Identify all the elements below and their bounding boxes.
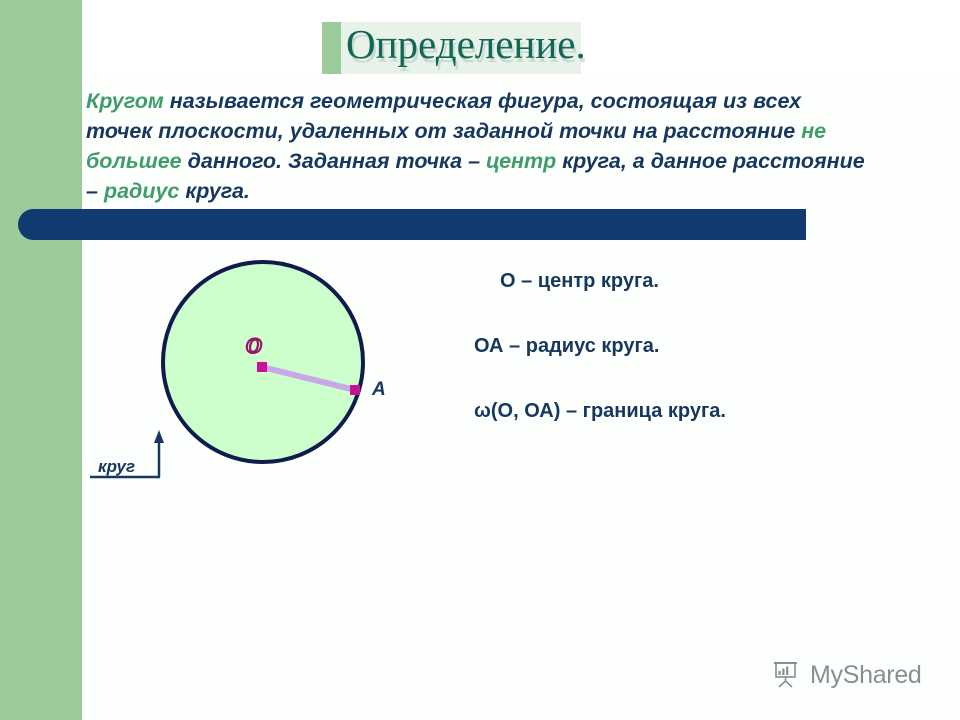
definition-text-part-1: называется геометрическая фигура, состоя…: [86, 89, 801, 143]
definition-term-krugom: Кругом: [86, 89, 164, 113]
definition-text-part-4: круга.: [179, 179, 250, 203]
point-label-a: A: [371, 379, 386, 400]
circle-diagram-svg: O A круг: [82, 245, 482, 505]
title-green-accent: [322, 22, 341, 74]
presentation-board-icon: [772, 660, 802, 690]
circle-diagram: O A круг: [82, 245, 482, 505]
region-label-krug: круг: [98, 457, 135, 476]
center-label-o: O: [246, 333, 262, 358]
definition-paragraph: Кругом называется геометрическая фигура,…: [82, 86, 872, 206]
watermark-label: MyShared: [810, 661, 922, 690]
left-green-band: [0, 0, 82, 720]
fact-center: О – центр круга.: [474, 270, 874, 293]
myshared-watermark: MyShared: [772, 660, 922, 690]
fact-radius: ОА – радиус круга.: [474, 335, 874, 358]
fact-boundary: ω(О, ОА) – граница круга.: [474, 400, 874, 423]
definition-term-centr: центр: [486, 149, 556, 173]
leader-arrowhead-icon: [154, 430, 164, 443]
center-point-marker: [257, 362, 267, 372]
slide-canvas: Определение. Кругом называется геометрич…: [0, 0, 960, 720]
definition-text-part-2: данного. Заданная точка –: [182, 149, 486, 173]
navy-divider-bar: [18, 209, 806, 240]
definition-term-radius: радиус: [104, 179, 179, 203]
facts-list: О – центр круга. ОА – радиус круга. ω(О,…: [474, 270, 874, 465]
page-title: Определение.: [346, 20, 586, 68]
point-a-marker: [350, 385, 360, 395]
